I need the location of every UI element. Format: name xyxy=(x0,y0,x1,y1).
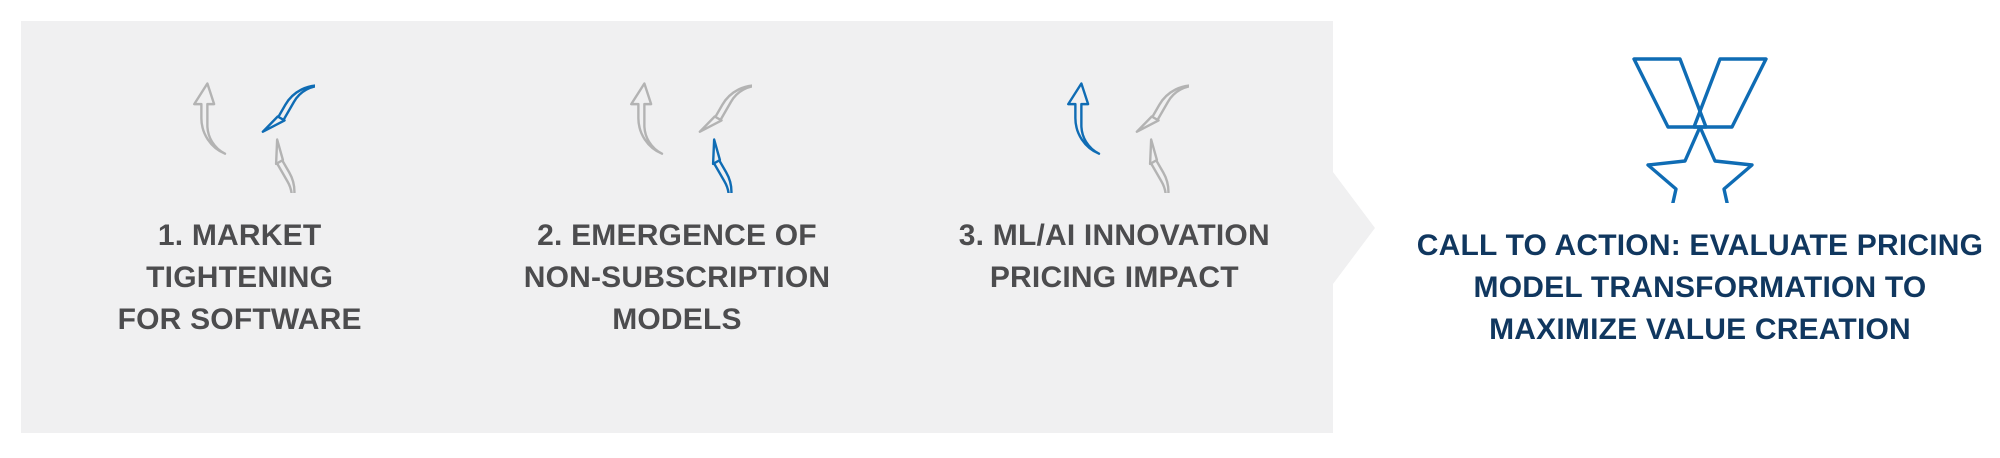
slide-canvas: 1. MARKET TIGHTENING FOR SOFTWARE 2. EME… xyxy=(0,0,2000,458)
call-to-action-panel: CALL TO ACTION: EVALUATE PRICING MODEL T… xyxy=(1400,21,2000,433)
step-item-1[interactable]: 1. MARKET TIGHTENING FOR SOFTWARE xyxy=(21,21,458,341)
steps-row: 1. MARKET TIGHTENING FOR SOFTWARE 2. EME… xyxy=(21,21,1333,433)
cycle-arrows-icon xyxy=(165,43,315,193)
step-item-3[interactable]: 3. ML/AI INNOVATION PRICING IMPACT xyxy=(896,21,1333,299)
step-label-1: 1. MARKET TIGHTENING FOR SOFTWARE xyxy=(75,215,405,341)
cycle-arrows-icon xyxy=(1039,43,1189,193)
award-medal-star-icon xyxy=(1620,33,1780,203)
step-label-2: 2. EMERGENCE OF NON-SUBSCRIPTION MODELS xyxy=(512,215,842,341)
cycle-arrows-icon xyxy=(602,43,752,193)
call-to-action-text: CALL TO ACTION: EVALUATE PRICING MODEL T… xyxy=(1410,225,1990,351)
step-label-3: 3. ML/AI INNOVATION PRICING IMPACT xyxy=(949,215,1279,299)
step-item-2[interactable]: 2. EMERGENCE OF NON-SUBSCRIPTION MODELS xyxy=(458,21,895,341)
